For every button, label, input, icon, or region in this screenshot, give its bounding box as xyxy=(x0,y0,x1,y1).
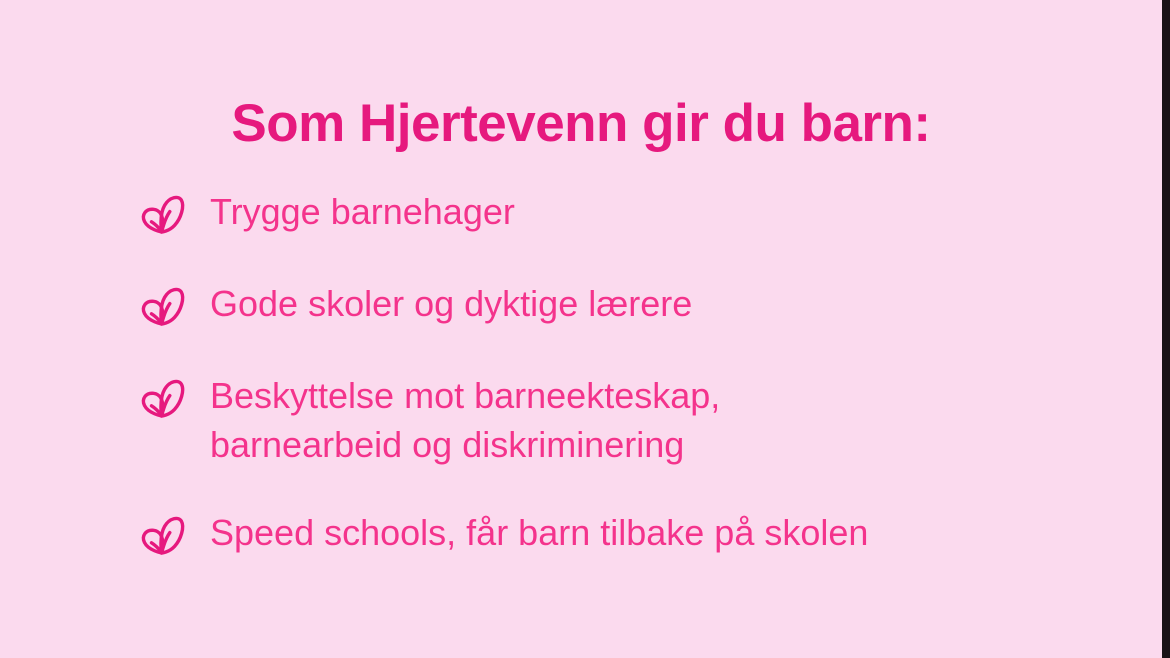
list-item: Speed schools, får barn tilbake på skole… xyxy=(136,507,1136,561)
two-leaves-icon xyxy=(136,509,188,561)
page-title: Som Hjertevenn gir du barn: xyxy=(0,95,1162,153)
list-item-label: Trygge barnehager xyxy=(210,186,515,236)
list-item-line: barnearbeid og diskriminering xyxy=(210,420,720,469)
two-leaves-icon xyxy=(136,372,188,424)
list-item: Trygge barnehager xyxy=(136,186,1136,240)
list-item-line: Gode skoler og dyktige lærere xyxy=(210,279,692,328)
list-item-label: Speed schools, får barn tilbake på skole… xyxy=(210,507,868,557)
letterbox-bar-right xyxy=(1162,0,1170,658)
benefits-list: Trygge barnehager Gode s xyxy=(136,186,1136,599)
list-item-line: Trygge barnehager xyxy=(210,187,515,236)
list-item-label: Gode skoler og dyktige lærere xyxy=(210,278,692,328)
list-item: Beskyttelse mot barneekteskap, barnearbe… xyxy=(136,370,1136,469)
slide-root: Som Hjertevenn gir du barn: Trygge xyxy=(0,0,1170,658)
slide-canvas: Som Hjertevenn gir du barn: Trygge xyxy=(0,0,1162,658)
two-leaves-icon xyxy=(136,188,188,240)
list-item-line: Speed schools, får barn tilbake på skole… xyxy=(210,508,868,557)
list-item-label: Beskyttelse mot barneekteskap, barnearbe… xyxy=(210,370,720,469)
list-item-line: Beskyttelse mot barneekteskap, xyxy=(210,371,720,420)
list-item: Gode skoler og dyktige lærere xyxy=(136,278,1136,332)
two-leaves-icon xyxy=(136,280,188,332)
